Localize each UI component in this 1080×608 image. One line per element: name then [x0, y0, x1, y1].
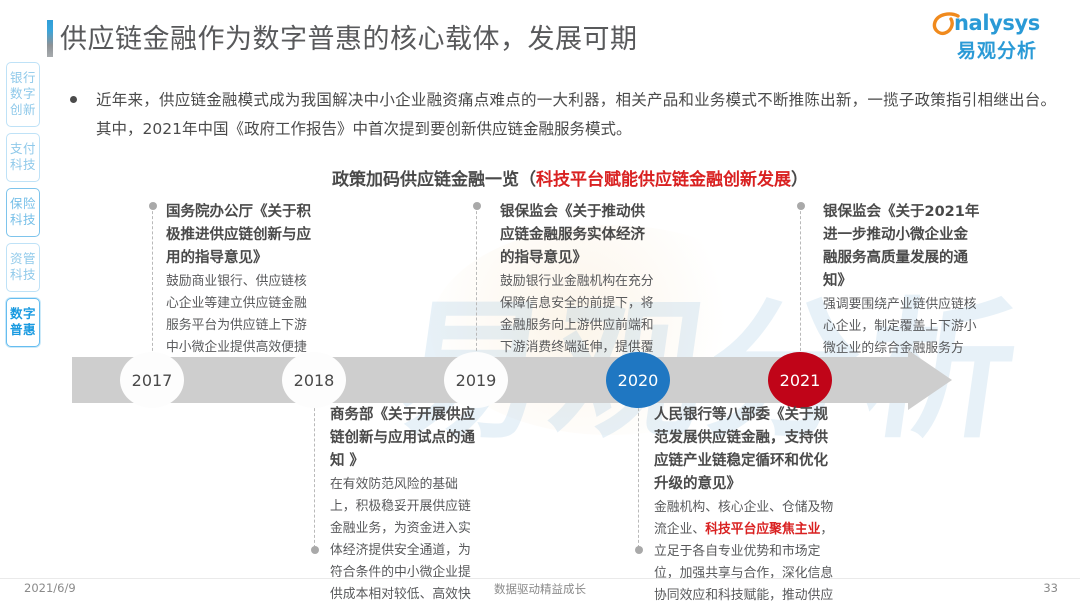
- title-accent-bar: [47, 20, 53, 57]
- year-label: 2021: [780, 371, 821, 390]
- sidebar-item-digital-inclusive[interactable]: 数字普惠: [6, 298, 40, 347]
- year-label: 2017: [132, 371, 173, 390]
- intro-paragraph: 近年来，供应链金融模式成为我国解决中小企业融资痛点难点的一大利器，相关产品和业务…: [96, 86, 1056, 144]
- slide-canvas: 易观分析 供应链金融作为数字普惠的核心载体，发展可期 nalysys 易观分析 …: [0, 0, 1080, 608]
- sidebar-item-label: 保险科技: [7, 196, 39, 228]
- year-label: 2019: [456, 371, 497, 390]
- logo-chinese-name: 易观分析: [957, 36, 1037, 63]
- timeline-year-2021[interactable]: 2021: [768, 352, 832, 408]
- policy-title: 国务院办公厅《关于积极推进供应链创新与应用的指导意见》: [166, 201, 316, 270]
- page-title: 供应链金融作为数字普惠的核心载体，发展可期: [60, 17, 638, 56]
- connector-line-2017: [152, 206, 153, 356]
- policy-body-highlight: 科技平台应聚焦主业: [705, 522, 820, 537]
- year-label: 2020: [618, 371, 659, 390]
- footer-slogan: 数据驱动精益成长: [0, 581, 1080, 597]
- sidebar-item-label: 数字普惠: [7, 306, 39, 338]
- timeline-year-2018[interactable]: 2018: [282, 352, 346, 408]
- policy-title: 银保监会《关于2021年进一步推动小微企业金融服务高质量发展的通知》: [823, 201, 980, 293]
- logo-wordmark: nalysys: [954, 11, 1040, 35]
- sidebar-item-label: 资管科技: [7, 251, 39, 283]
- connector-line-2021: [800, 206, 801, 356]
- connector-line-2019: [476, 206, 477, 356]
- bullet-marker-icon: [70, 96, 77, 103]
- timeline-year-2017[interactable]: 2017: [120, 352, 184, 408]
- year-label: 2018: [294, 371, 335, 390]
- timeline-arrow-head-icon: [908, 350, 952, 410]
- footer-page-number: 33: [1043, 581, 1058, 595]
- policy-block-2017: 国务院办公厅《关于积极推进供应链创新与应用的指导意见》 鼓励商业银行、供应链核心…: [166, 201, 316, 381]
- connector-dot-2020: [635, 546, 643, 554]
- sidebar-item-insurance-tech[interactable]: 保险科技: [6, 188, 40, 237]
- category-tab-rail: 银行数字创新 支付科技 保险科技 资管科技 数字普惠: [6, 62, 42, 353]
- connector-dot-2019: [473, 202, 481, 210]
- connector-dot-2018: [311, 546, 319, 554]
- connector-line-2018: [314, 403, 315, 548]
- sidebar-item-payment-tech[interactable]: 支付科技: [6, 133, 40, 182]
- timeline-heading-close: ）: [791, 170, 808, 190]
- timeline-year-2019[interactable]: 2019: [444, 352, 508, 408]
- analysys-logo: nalysys 易观分析: [932, 10, 1052, 62]
- policy-title: 银保监会《关于推动供应链金融服务实体经济的指导意见》: [500, 201, 655, 270]
- timeline-year-2020[interactable]: 2020: [606, 352, 670, 408]
- timeline-heading: 政策加码供应链金融一览（科技平台赋能供应链金融创新发展）: [332, 165, 808, 190]
- timeline-heading-highlight: 科技平台赋能供应链金融创新发展: [536, 170, 791, 190]
- connector-dot-2021: [797, 202, 805, 210]
- connector-line-2020: [638, 403, 639, 548]
- connector-dot-2017: [149, 202, 157, 210]
- policy-title: 人民银行等八部委《关于规范发展供应链金融，支持供应链产业链稳定循环和优化升级的意…: [654, 404, 837, 496]
- footer-divider: [0, 578, 1080, 579]
- sidebar-item-label: 银行数字创新: [7, 70, 39, 118]
- sidebar-item-label: 支付科技: [7, 141, 39, 173]
- sidebar-item-asset-management-tech[interactable]: 资管科技: [6, 243, 40, 292]
- policy-block-2021: 银保监会《关于2021年进一步推动小微企业金融服务高质量发展的通知》 强调要围绕…: [823, 201, 980, 382]
- timeline-heading-main: 政策加码供应链金融一览（: [332, 170, 536, 190]
- sidebar-item-bank-digital[interactable]: 银行数字创新: [6, 62, 40, 127]
- policy-title: 商务部《关于开展供应链创新与应用试点的通知 》: [330, 404, 482, 473]
